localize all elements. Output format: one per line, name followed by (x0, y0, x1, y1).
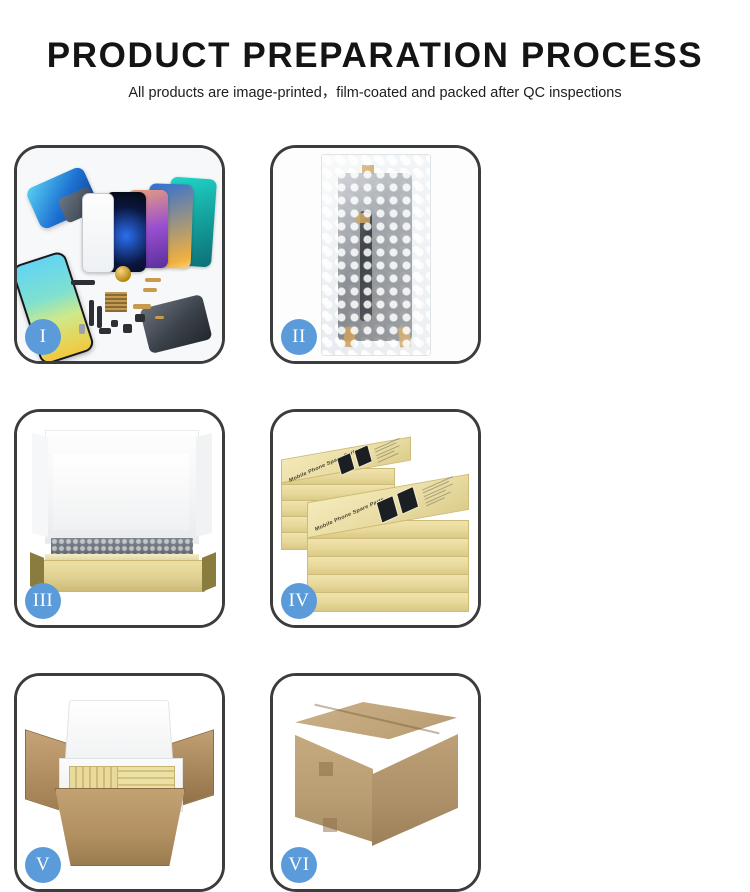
page-header: PRODUCT PREPARATION PROCESS All products… (0, 0, 750, 104)
page-title: PRODUCT PREPARATION PROCESS (0, 36, 750, 76)
step-badge-3: III (25, 583, 61, 619)
process-step-panel-4: Mobile Phone Spare Parts (270, 409, 481, 628)
process-step-grid: I II III (14, 145, 736, 892)
step-badge-4: IV (281, 583, 317, 619)
process-step-panel-5: V (14, 673, 225, 892)
step-badge-2: II (281, 319, 317, 355)
page-subtitle: All products are image-printed，film-coat… (0, 82, 750, 104)
process-step-panel-1: I (14, 145, 225, 364)
step-badge-6: VI (281, 847, 317, 883)
process-step-panel-3: III (14, 409, 225, 628)
step-badge-1: I (25, 319, 61, 355)
process-step-panel-2: II (270, 145, 481, 364)
step-badge-5: V (25, 847, 61, 883)
process-step-panel-6: VI (270, 673, 481, 892)
